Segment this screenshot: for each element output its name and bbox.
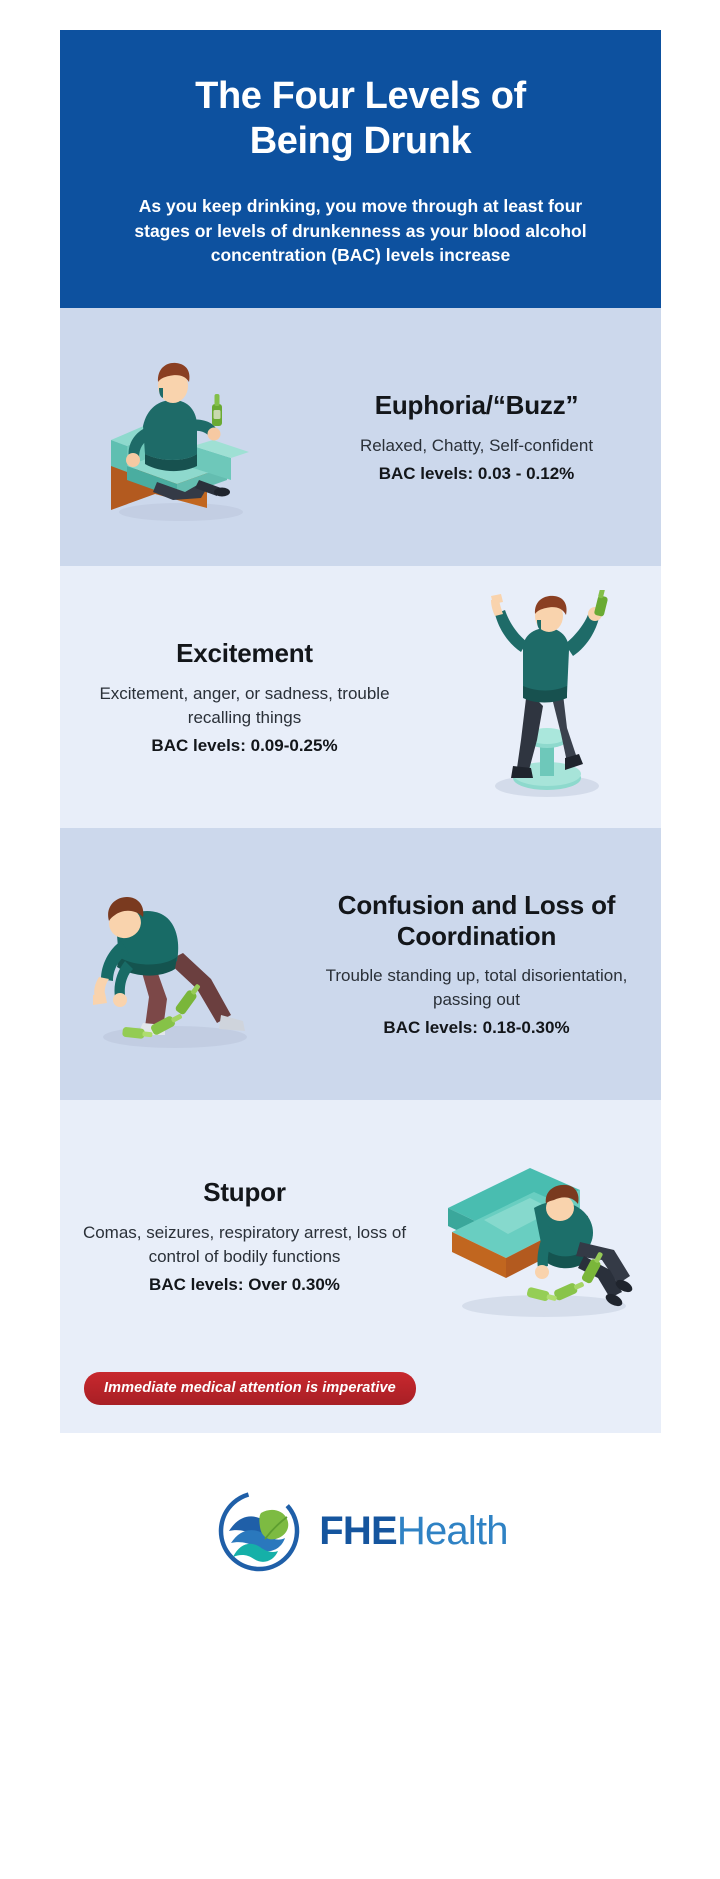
level-description: Relaxed, Chatty, Self-confident <box>308 434 645 457</box>
header-banner: The Four Levels of Being Drunk As you ke… <box>60 30 661 308</box>
level-section-excitement: Excitement Excitement, anger, or sadness… <box>60 566 661 828</box>
level-text-excitement: Excitement Excitement, anger, or sadness… <box>60 638 429 756</box>
page-title-line1: The Four Levels of <box>94 74 627 119</box>
level-description: Excitement, anger, or sadness, trouble r… <box>76 682 413 729</box>
alert-banner-wrap: Immediate medical attention is imperativ… <box>60 1372 661 1433</box>
level-bac: BAC levels: 0.09-0.25% <box>76 736 413 756</box>
celebrating-figure-icon <box>455 590 635 805</box>
level-title: Stupor <box>76 1177 413 1208</box>
page-title-line2: Being Drunk <box>94 119 627 164</box>
infographic-sheet: The Four Levels of Being Drunk As you ke… <box>60 30 661 1820</box>
collapsed-figure-icon <box>438 1146 653 1326</box>
logo-wordmark: FHEHealth <box>319 1509 507 1554</box>
level-title: Confusion and Loss of Coordination <box>308 890 645 951</box>
level-bac: BAC levels: 0.18-0.30% <box>308 1018 645 1038</box>
level-title: Euphoria/“Buzz” <box>308 390 645 421</box>
fhe-health-logo-icon <box>213 1485 305 1577</box>
status-badge-medical-attention: Immediate medical attention is imperativ… <box>84 1372 416 1405</box>
level-description: Comas, seizures, respiratory arrest, los… <box>76 1221 413 1268</box>
illustration-man-crawling <box>60 828 292 1100</box>
level-text-confusion: Confusion and Loss of Coordination Troub… <box>292 890 661 1038</box>
illustration-man-collapsed-over-couch <box>429 1100 661 1372</box>
level-description: Trouble standing up, total disorientatio… <box>308 964 645 1011</box>
illustration-man-in-armchair <box>60 308 292 566</box>
level-text-euphoria: Euphoria/“Buzz” Relaxed, Chatty, Self-co… <box>292 390 661 484</box>
illustration-man-on-stool <box>429 566 661 828</box>
page-subtitle: As you keep drinking, you move through a… <box>94 194 627 269</box>
level-section-stupor: Stupor Comas, seizures, respiratory arre… <box>60 1100 661 1372</box>
infographic-page: The Four Levels of Being Drunk As you ke… <box>0 0 720 1879</box>
level-bac: BAC levels: Over 0.30% <box>76 1275 413 1295</box>
footer-logo-area: FHEHealth <box>60 1433 661 1629</box>
logo-text-health: Health <box>397 1509 508 1553</box>
level-section-euphoria: Euphoria/“Buzz” Relaxed, Chatty, Self-co… <box>60 308 661 566</box>
level-bac: BAC levels: 0.03 - 0.12% <box>308 464 645 484</box>
level-section-confusion: Confusion and Loss of Coordination Troub… <box>60 828 661 1100</box>
crawling-figure-icon <box>71 869 281 1059</box>
logo-text-fhe: FHE <box>319 1509 397 1553</box>
level-text-stupor: Stupor Comas, seizures, respiratory arre… <box>60 1177 429 1295</box>
armchair-figure-icon <box>81 342 271 532</box>
level-title: Excitement <box>76 638 413 669</box>
page-title: The Four Levels of Being Drunk <box>94 74 627 164</box>
